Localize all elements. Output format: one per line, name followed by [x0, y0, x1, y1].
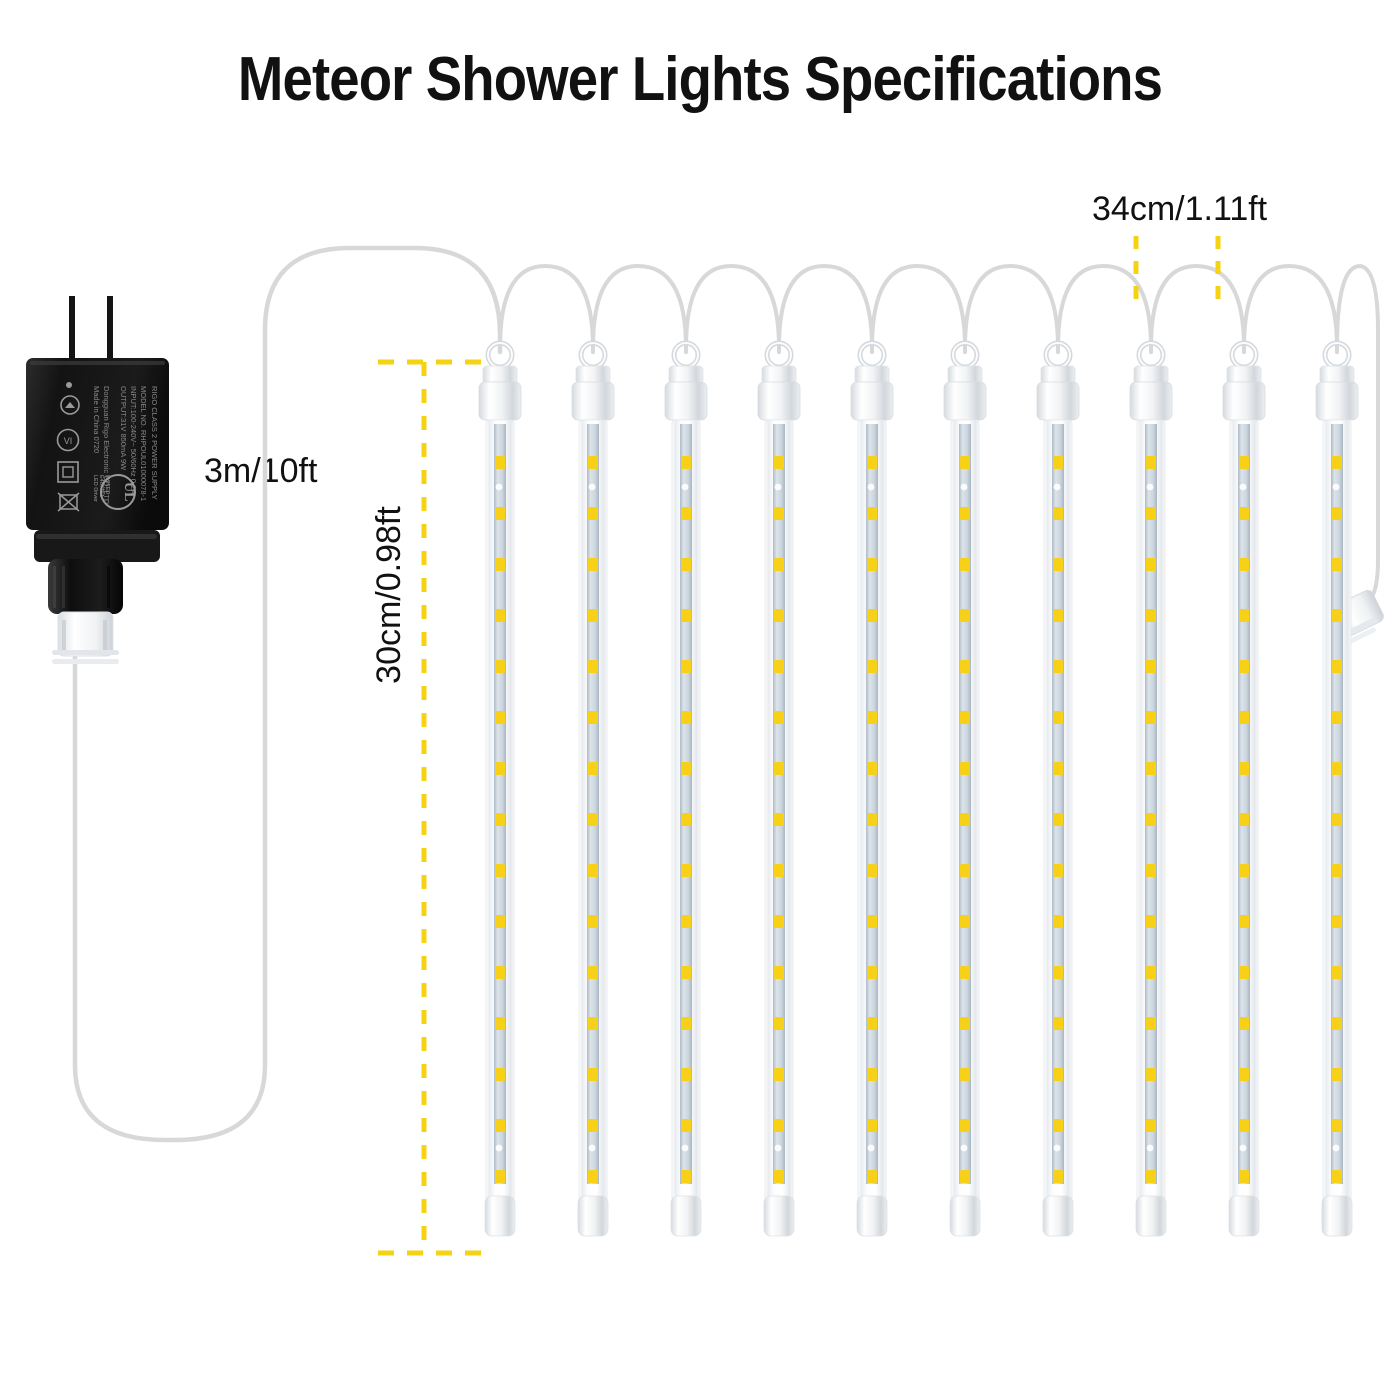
light-tube — [665, 343, 707, 1236]
tube-neck — [948, 366, 982, 384]
strip-resistor — [1240, 484, 1247, 491]
tube-end-cap — [485, 1196, 515, 1236]
strip-resistor — [1147, 484, 1154, 491]
strip-resistor — [961, 484, 968, 491]
tube-end-cap — [1322, 1196, 1352, 1236]
dot-mark-icon — [66, 382, 72, 388]
tube-neck — [1041, 366, 1075, 384]
ul-driver-text: LED Driver — [92, 475, 98, 502]
tube-cap — [944, 382, 986, 420]
light-tube — [758, 343, 800, 1236]
strip-resistor — [682, 484, 689, 491]
led-chips — [1053, 456, 1063, 1183]
tube-end-cap — [1229, 1196, 1259, 1236]
tube-cap — [572, 382, 614, 420]
adapter-output-line: OUTPUT:31V 850mA 9W — [119, 386, 128, 471]
led-chips — [1239, 456, 1249, 1183]
ul-mark-text: UL — [121, 482, 136, 501]
tube-cap — [1037, 382, 1079, 420]
led-chips — [774, 456, 784, 1183]
strip-resistor — [1333, 484, 1340, 491]
tube-end-cap — [1136, 1196, 1166, 1236]
tube-cap — [1223, 382, 1265, 420]
light-tube — [1223, 343, 1265, 1236]
light-tube — [851, 343, 893, 1236]
led-chips — [867, 456, 877, 1183]
strip-resistor — [496, 484, 503, 491]
tube-neck — [669, 366, 703, 384]
svg-text:VI: VI — [64, 436, 73, 446]
led-chips — [1146, 456, 1156, 1183]
led-chips — [1332, 456, 1342, 1183]
tube-end-cap — [950, 1196, 980, 1236]
tube-cap — [851, 382, 893, 420]
light-tube — [479, 343, 521, 1236]
led-chips — [495, 456, 505, 1183]
tube-end-cap — [764, 1196, 794, 1236]
light-tube-group — [479, 343, 1358, 1236]
tube-neck — [576, 366, 610, 384]
adapter-prong-right — [107, 296, 113, 362]
light-tube — [1130, 343, 1172, 1236]
tube-cap — [1316, 382, 1358, 420]
strip-resistor — [1333, 1145, 1340, 1152]
strip-resistor — [682, 1145, 689, 1152]
tube-cap — [758, 382, 800, 420]
strip-resistor — [868, 484, 875, 491]
tube-end-cap — [671, 1196, 701, 1236]
tube-neck — [855, 366, 889, 384]
tube-cap — [479, 382, 521, 420]
tube-end-cap — [857, 1196, 887, 1236]
tube-neck — [483, 366, 517, 384]
strip-resistor — [1240, 1145, 1247, 1152]
strip-resistor — [589, 484, 596, 491]
tube-neck — [1320, 366, 1354, 384]
strip-resistor — [961, 1145, 968, 1152]
tube-end-cap — [1043, 1196, 1073, 1236]
light-tube — [944, 343, 986, 1236]
light-tube — [572, 343, 614, 1236]
adapter-brand-line: RIGO CLASS 2 POWER SUPPLY — [150, 386, 159, 500]
strip-resistor — [775, 484, 782, 491]
strip-resistor — [589, 1145, 596, 1152]
adapter-input-line: INPUT:100-240V~ 50/60Hz 0.2A — [129, 386, 138, 494]
adapter-model-line: MODEL NO. RHPOUL01000078-1 — [139, 386, 148, 501]
led-chips — [588, 456, 598, 1183]
tube-cap — [665, 382, 707, 420]
light-tube — [1316, 343, 1358, 1236]
tube-neck — [762, 366, 796, 384]
specification-diagram: Meteor Shower Lights Specifications 3m/1… — [0, 0, 1400, 1400]
strip-resistor — [496, 1145, 503, 1152]
product-artwork: RIGO CLASS 2 POWER SUPPLY MODEL NO. RHPO… — [0, 0, 1400, 1400]
tube-neck — [1134, 366, 1168, 384]
strip-resistor — [1054, 484, 1061, 491]
led-chips — [681, 456, 691, 1183]
adapter-barrel — [48, 559, 123, 614]
strip-resistor — [775, 1145, 782, 1152]
light-tube — [1037, 343, 1079, 1236]
led-chips — [960, 456, 970, 1183]
strip-resistor — [1147, 1145, 1154, 1152]
power-adapter: RIGO CLASS 2 POWER SUPPLY MODEL NO. RHPO… — [26, 296, 169, 664]
tube-neck — [1227, 366, 1261, 384]
adapter-prong-left — [69, 296, 75, 362]
tube-end-cap — [578, 1196, 608, 1236]
strip-resistor — [1054, 1145, 1061, 1152]
strip-resistor — [868, 1145, 875, 1152]
tube-cap — [1130, 382, 1172, 420]
adapter-made-in-line: Made in China 0720 — [92, 386, 101, 453]
